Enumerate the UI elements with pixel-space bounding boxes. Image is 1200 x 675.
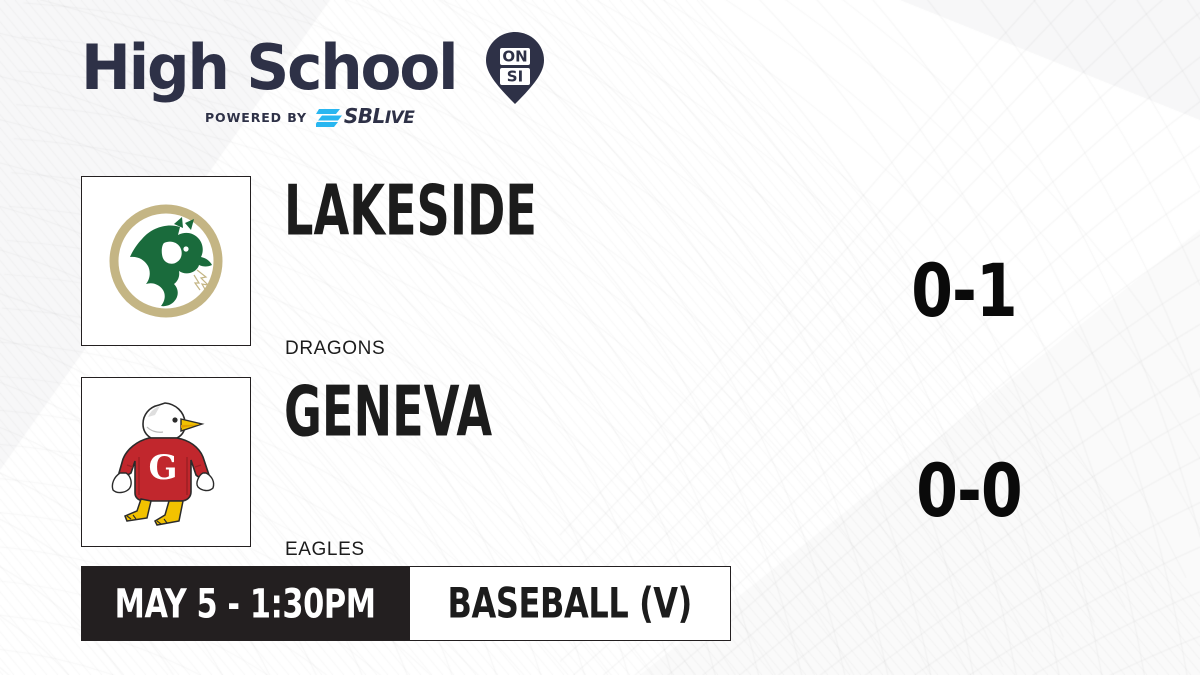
sblive-lite: IVE <box>385 108 415 128</box>
powered-by-label: POWERED BY <box>205 110 307 125</box>
brand-title: High School <box>81 35 456 101</box>
jersey-letter: G <box>148 448 177 488</box>
brand-logo: High School ON SI POWERED BY <box>81 32 511 132</box>
team-logo-box-lakeside <box>81 176 251 346</box>
team-mascot-eagles: EAGLES <box>285 539 365 561</box>
brand-logo-row: High School ON SI <box>81 32 511 104</box>
powered-by-row: POWERED BY SBLIVE <box>205 106 511 128</box>
team-mascot-dragons: DRAGONS <box>285 338 385 360</box>
team-record-lakeside: 0-1 <box>894 255 1035 328</box>
sblive-logo: SBLIVE <box>316 106 415 128</box>
eagle-mascot-logo-icon: G <box>107 397 225 527</box>
event-datetime-block: MAY 5 - 1:30PM <box>81 566 410 641</box>
dragon-head-logo-icon <box>102 197 230 325</box>
scorecard-graphic: High School ON SI POWERED BY <box>0 0 1200 675</box>
onsi-pin-text-si: SI <box>507 68 523 86</box>
team-name-lakeside: LAKESIDE <box>284 176 537 246</box>
event-sport-text: BASEBALL (V) <box>448 583 692 625</box>
sblive-wordmark: SBLIVE <box>344 106 415 128</box>
sblive-mark-icon <box>316 108 342 127</box>
onsi-pin-text-on: ON <box>502 48 527 66</box>
onsi-pin-icon: ON SI <box>486 32 544 104</box>
event-info-bar: MAY 5 - 1:30PM BASEBALL (V) <box>81 566 731 641</box>
team-logo-box-geneva: G <box>81 377 251 547</box>
sblive-main: SBL <box>344 104 385 128</box>
event-datetime-text: MAY 5 - 1:30PM <box>115 584 376 624</box>
team-record-geneva: 0-0 <box>899 455 1040 528</box>
team-name-geneva: GENEVA <box>284 377 492 447</box>
event-sport-block: BASEBALL (V) <box>410 566 731 641</box>
